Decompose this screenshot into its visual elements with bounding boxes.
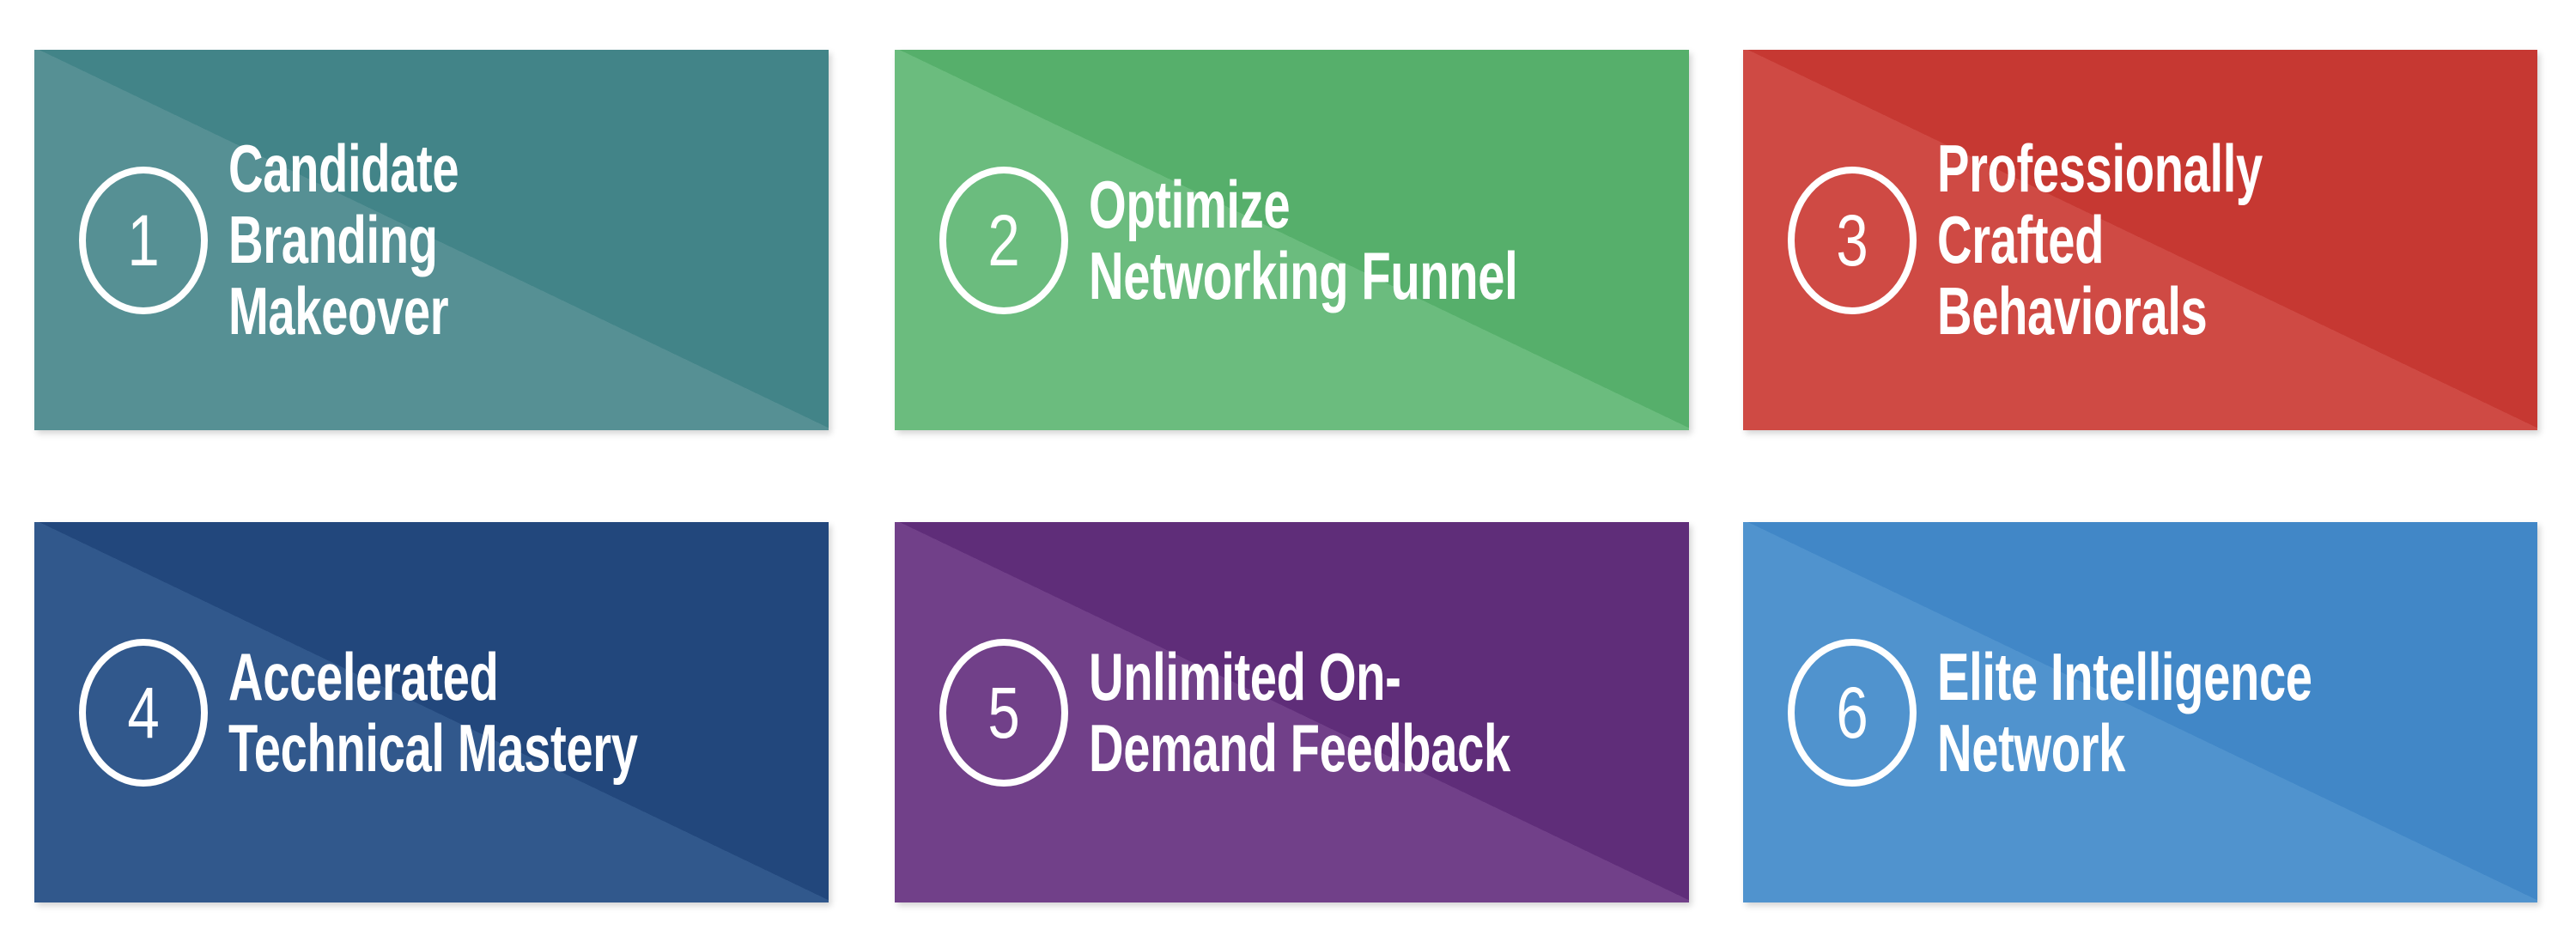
card-title: Elite Intelligence Network bbox=[1937, 641, 2369, 783]
step-number-label: 6 bbox=[1801, 639, 1904, 787]
feature-card-2[interactable]: 2 Optimize Networking Funnel bbox=[895, 50, 1689, 430]
feature-card-3[interactable]: 3 Professionally Crafted Behaviorals bbox=[1743, 50, 2537, 430]
step-number-badge: 5 bbox=[939, 639, 1068, 787]
card-title: Optimize Networking Funnel bbox=[1089, 169, 1521, 311]
step-number-badge: 6 bbox=[1788, 639, 1917, 787]
card-content: 1 Candidate Branding Makeover bbox=[34, 50, 829, 430]
step-number-label: 1 bbox=[92, 167, 195, 314]
card-title: Candidate Branding Makeover bbox=[228, 133, 660, 346]
card-title: Professionally Crafted Behaviorals bbox=[1937, 133, 2369, 346]
step-number-label: 5 bbox=[952, 639, 1055, 787]
card-title: Unlimited On- Demand Feedback bbox=[1089, 641, 1521, 783]
feature-card-grid: 1 Candidate Branding Makeover 2 Optimize… bbox=[0, 0, 2576, 948]
step-number-badge: 1 bbox=[79, 167, 208, 314]
feature-card-1[interactable]: 1 Candidate Branding Makeover bbox=[34, 50, 829, 430]
card-content: 3 Professionally Crafted Behaviorals bbox=[1743, 50, 2537, 430]
step-number-badge: 3 bbox=[1788, 167, 1917, 314]
card-content: 2 Optimize Networking Funnel bbox=[895, 50, 1689, 430]
card-content: 6 Elite Intelligence Network bbox=[1743, 522, 2537, 902]
step-number-label: 2 bbox=[952, 167, 1055, 314]
feature-card-4[interactable]: 4 Accelerated Technical Mastery bbox=[34, 522, 829, 902]
step-number-badge: 2 bbox=[939, 167, 1068, 314]
step-number-label: 4 bbox=[92, 639, 195, 787]
step-number-badge: 4 bbox=[79, 639, 208, 787]
card-content: 4 Accelerated Technical Mastery bbox=[34, 522, 829, 902]
feature-card-5[interactable]: 5 Unlimited On- Demand Feedback bbox=[895, 522, 1689, 902]
step-number-label: 3 bbox=[1801, 167, 1904, 314]
feature-card-6[interactable]: 6 Elite Intelligence Network bbox=[1743, 522, 2537, 902]
card-title: Accelerated Technical Mastery bbox=[228, 641, 660, 783]
card-content: 5 Unlimited On- Demand Feedback bbox=[895, 522, 1689, 902]
